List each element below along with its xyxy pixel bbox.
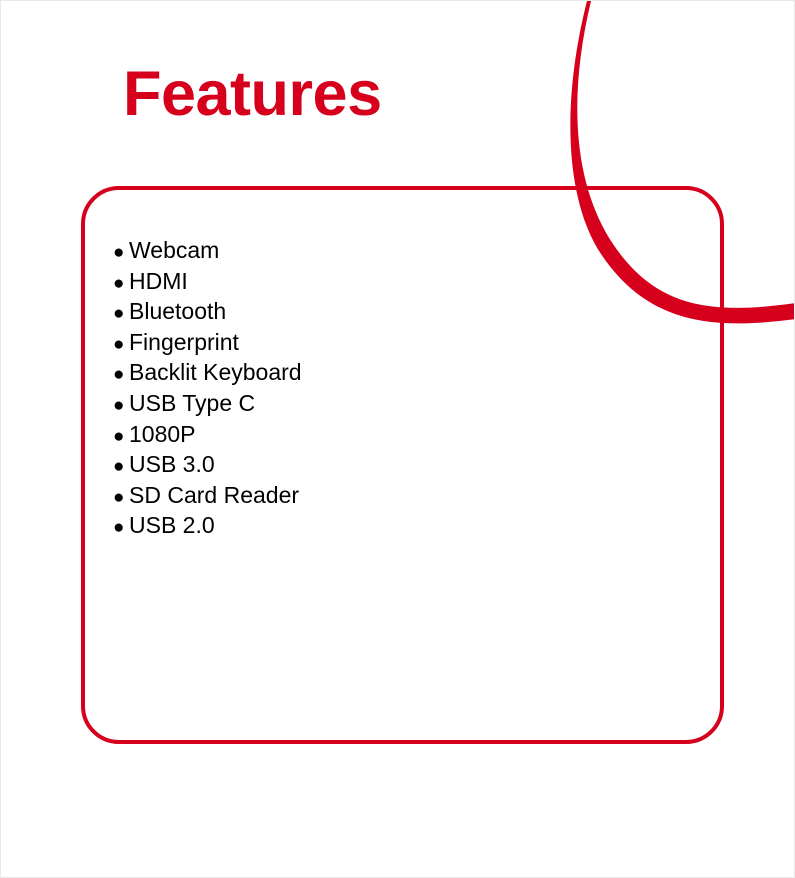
feature-label: USB 2.0 [129, 512, 215, 539]
feature-label: Backlit Keyboard [129, 359, 302, 386]
list-item: ● Bluetooth [113, 298, 673, 329]
feature-label: Fingerprint [129, 329, 239, 356]
bullet-icon: ● [113, 335, 129, 354]
feature-label: SD Card Reader [129, 482, 299, 509]
bullet-icon: ● [113, 365, 129, 384]
slide-canvas: Features ● Webcam ● HDMI ● Bluetooth ● F… [0, 0, 795, 878]
bullet-icon: ● [113, 427, 129, 446]
list-item: ● 1080P [113, 421, 673, 452]
bullet-icon: ● [113, 274, 129, 293]
bullet-icon: ● [113, 304, 129, 323]
feature-label: USB 3.0 [129, 451, 215, 478]
bullet-icon: ● [113, 243, 129, 262]
features-list: ● Webcam ● HDMI ● Bluetooth ● Fingerprin… [113, 237, 673, 543]
list-item: ● SD Card Reader [113, 482, 673, 513]
list-item: ● HDMI [113, 268, 673, 299]
bullet-icon: ● [113, 396, 129, 415]
bullet-icon: ● [113, 488, 129, 507]
feature-label: 1080P [129, 421, 196, 448]
feature-label: Webcam [129, 237, 219, 264]
feature-label: Bluetooth [129, 298, 226, 325]
list-item: ● Backlit Keyboard [113, 359, 673, 390]
list-item: ● Fingerprint [113, 329, 673, 360]
list-item: ● USB 2.0 [113, 512, 673, 543]
list-item: ● Webcam [113, 237, 673, 268]
list-item: ● USB Type C [113, 390, 673, 421]
feature-label: USB Type C [129, 390, 255, 417]
list-item: ● USB 3.0 [113, 451, 673, 482]
feature-label: HDMI [129, 268, 188, 295]
page-title: Features [123, 63, 382, 126]
bullet-icon: ● [113, 457, 129, 476]
bullet-icon: ● [113, 518, 129, 537]
